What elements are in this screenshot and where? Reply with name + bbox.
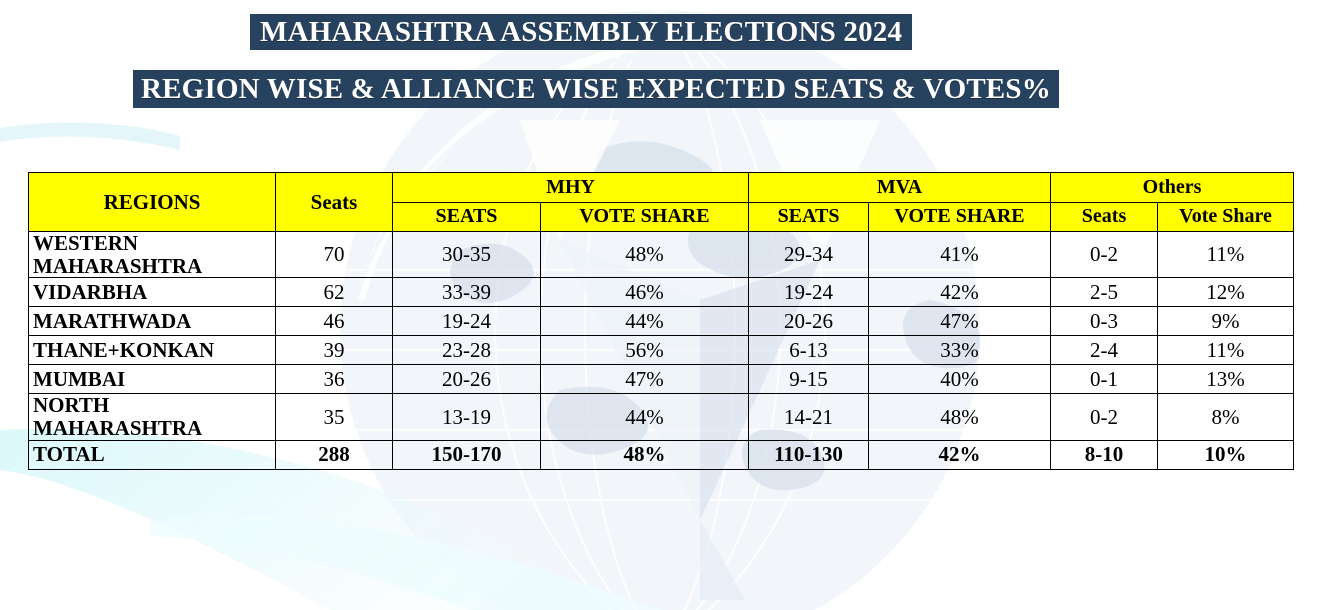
cell-oth-vote: 12% xyxy=(1158,278,1294,307)
cell-mva-seats: 19-24 xyxy=(749,278,869,307)
table-row: NORTH MAHARASHTRA3513-1944%14-2148%0-28% xyxy=(29,394,1294,440)
cell-oth-seats: 0-3 xyxy=(1051,307,1158,336)
cell-oth-vote: 11% xyxy=(1158,232,1294,278)
cell-mva-vote: 40% xyxy=(869,365,1051,394)
column-header-mhy-vote-share: VOTE SHARE xyxy=(541,202,749,232)
cell-mva-seats: 6-13 xyxy=(749,336,869,365)
cell-oth-seats: 2-4 xyxy=(1051,336,1158,365)
cell-mhy-seats: 30-35 xyxy=(393,232,541,278)
cell-mhy-seats: 13-19 xyxy=(393,394,541,440)
cell-mva-seats: 110-130 xyxy=(749,440,869,469)
cell-mva-seats: 9-15 xyxy=(749,365,869,394)
table-row: TOTAL288150-17048%110-13042%8-1010% xyxy=(29,440,1294,469)
cell-region: NORTH MAHARASHTRA xyxy=(29,394,276,440)
cell-region: VIDARBHA xyxy=(29,278,276,307)
cell-seats: 39 xyxy=(276,336,393,365)
cell-oth-vote: 11% xyxy=(1158,336,1294,365)
table-row: VIDARBHA6233-3946%19-2442%2-512% xyxy=(29,278,1294,307)
cell-seats: 46 xyxy=(276,307,393,336)
page-title-secondary: REGION WISE & ALLIANCE WISE EXPECTED SEA… xyxy=(133,70,1059,108)
cell-mhy-seats: 150-170 xyxy=(393,440,541,469)
column-header-mva-seats: SEATS xyxy=(749,202,869,232)
cell-mhy-vote: 46% xyxy=(541,278,749,307)
column-header-others-seats: Seats xyxy=(1051,202,1158,232)
cell-seats: 36 xyxy=(276,365,393,394)
table-row: THANE+KONKAN3923-2856%6-1333%2-411% xyxy=(29,336,1294,365)
cell-oth-seats: 0-2 xyxy=(1051,232,1158,278)
cell-mhy-vote: 56% xyxy=(541,336,749,365)
page-root: MAHARASHTRA ASSEMBLY ELECTIONS 2024 REGI… xyxy=(0,0,1320,610)
cell-region: TOTAL xyxy=(29,440,276,469)
table-body: WESTERN MAHARASHTRA7030-3548%29-3441%0-2… xyxy=(29,232,1294,470)
column-header-mhy-seats: SEATS xyxy=(393,202,541,232)
table-row: MUMBAI3620-2647%9-1540%0-113% xyxy=(29,365,1294,394)
cell-mhy-vote: 48% xyxy=(541,232,749,278)
cell-seats: 70 xyxy=(276,232,393,278)
cell-oth-seats: 0-1 xyxy=(1051,365,1158,394)
cell-seats: 35 xyxy=(276,394,393,440)
table-header: REGIONS Seats MHY MVA Others SEATS VOTE … xyxy=(29,173,1294,232)
cell-mva-seats: 14-21 xyxy=(749,394,869,440)
cell-mhy-vote: 48% xyxy=(541,440,749,469)
cell-oth-vote: 10% xyxy=(1158,440,1294,469)
group-header-others: Others xyxy=(1051,173,1294,203)
cell-oth-vote: 9% xyxy=(1158,307,1294,336)
cell-mva-seats: 20-26 xyxy=(749,307,869,336)
column-header-mva-vote-share: VOTE SHARE xyxy=(869,202,1051,232)
cell-mva-vote: 42% xyxy=(869,278,1051,307)
cell-mhy-seats: 19-24 xyxy=(393,307,541,336)
column-header-regions: REGIONS xyxy=(29,173,276,232)
cell-oth-seats: 8-10 xyxy=(1051,440,1158,469)
cell-seats: 288 xyxy=(276,440,393,469)
cell-region: MUMBAI xyxy=(29,365,276,394)
cell-oth-seats: 0-2 xyxy=(1051,394,1158,440)
election-results-table: REGIONS Seats MHY MVA Others SEATS VOTE … xyxy=(28,172,1294,470)
cell-mhy-seats: 23-28 xyxy=(393,336,541,365)
cell-region: WESTERN MAHARASHTRA xyxy=(29,232,276,278)
cell-mva-vote: 41% xyxy=(869,232,1051,278)
page-title-primary: MAHARASHTRA ASSEMBLY ELECTIONS 2024 xyxy=(250,14,912,50)
group-header-mhy: MHY xyxy=(393,173,749,203)
cell-oth-seats: 2-5 xyxy=(1051,278,1158,307)
group-header-mva: MVA xyxy=(749,173,1051,203)
table-row: MARATHWADA4619-2444%20-2647%0-39% xyxy=(29,307,1294,336)
cell-mhy-vote: 44% xyxy=(541,307,749,336)
cell-mhy-seats: 33-39 xyxy=(393,278,541,307)
cell-mva-vote: 33% xyxy=(869,336,1051,365)
table-row: WESTERN MAHARASHTRA7030-3548%29-3441%0-2… xyxy=(29,232,1294,278)
cell-mva-vote: 42% xyxy=(869,440,1051,469)
cell-oth-vote: 13% xyxy=(1158,365,1294,394)
cell-region: THANE+KONKAN xyxy=(29,336,276,365)
cell-mva-vote: 48% xyxy=(869,394,1051,440)
column-header-others-vote-share: Vote Share xyxy=(1158,202,1294,232)
cell-mva-vote: 47% xyxy=(869,307,1051,336)
cell-region: MARATHWADA xyxy=(29,307,276,336)
cell-mhy-vote: 47% xyxy=(541,365,749,394)
cell-seats: 62 xyxy=(276,278,393,307)
column-header-seats: Seats xyxy=(276,173,393,232)
cell-mva-seats: 29-34 xyxy=(749,232,869,278)
cell-mhy-seats: 20-26 xyxy=(393,365,541,394)
cell-mhy-vote: 44% xyxy=(541,394,749,440)
cell-oth-vote: 8% xyxy=(1158,394,1294,440)
header-row-groups: REGIONS Seats MHY MVA Others xyxy=(29,173,1294,203)
